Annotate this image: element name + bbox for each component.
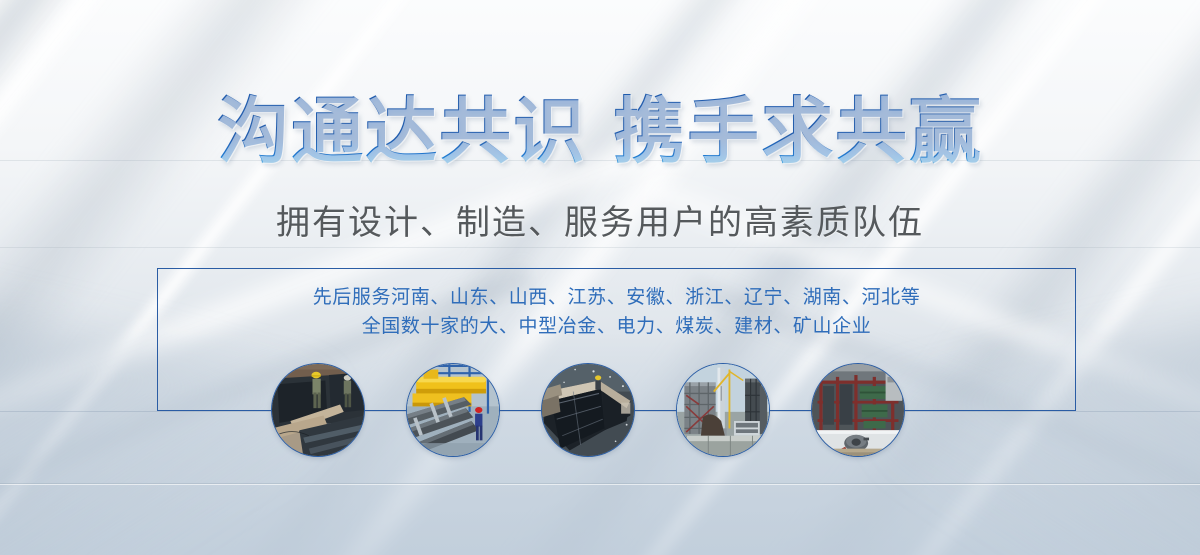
worker-on-duct <box>595 375 601 389</box>
photo-plant-construction-image <box>677 364 769 456</box>
photo-duct-assembly-snow[interactable] <box>541 363 635 457</box>
photo-workshop-frame[interactable] <box>811 363 905 457</box>
photo-yellow-equipment-pipes-image <box>407 364 499 456</box>
promotional-banner: 沟通达共识携手求共赢 拥有设计、制造、服务用户的高素质队伍 先后服务河南、山东、… <box>0 0 1200 555</box>
photo-circle-row <box>0 0 1200 555</box>
photo-workshop-frame-image <box>812 364 904 456</box>
photo-plant-construction[interactable] <box>676 363 770 457</box>
photo-yellow-equipment-pipes[interactable] <box>406 363 500 457</box>
photo-steel-panel-installation-image <box>272 364 364 456</box>
photo-duct-assembly-snow-image <box>542 364 634 456</box>
photo-steel-panel-installation[interactable] <box>271 363 365 457</box>
